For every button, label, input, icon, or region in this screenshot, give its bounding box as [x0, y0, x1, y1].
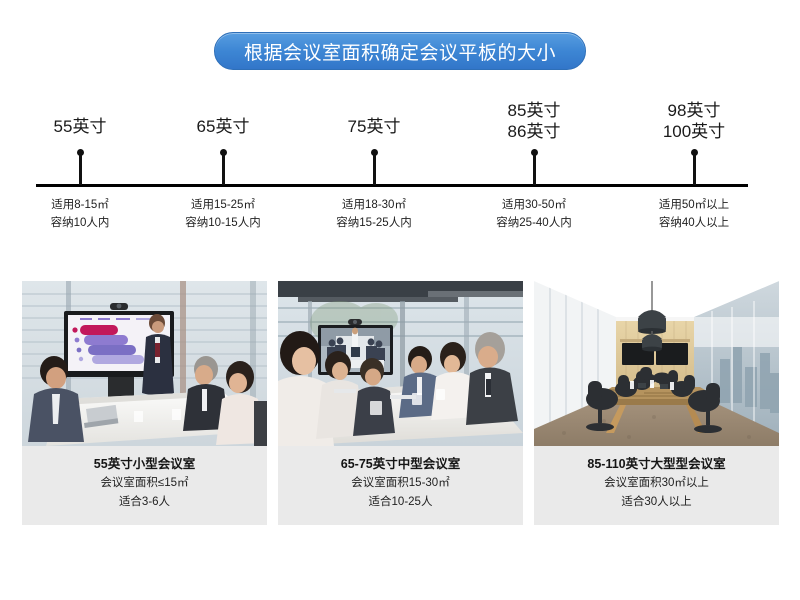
room-card-large: 85-110英寸大型型会议室 会议室面积30㎡以上 适合30人以上: [534, 281, 779, 525]
marker-stem: [373, 155, 376, 185]
marker-stem: [222, 155, 225, 185]
card-area: 会议室面积30㎡以上: [540, 474, 773, 493]
marker-size-line1: 75英寸: [289, 116, 459, 137]
marker-detail: 适用18-30㎡ 容纳15-25人内: [284, 196, 464, 232]
card-title: 85-110英寸大型型会议室: [540, 455, 773, 474]
room-card-caption: 85-110英寸大型型会议室 会议室面积30㎡以上 适合30人以上: [534, 446, 779, 525]
marker-size-line2: 86英寸: [449, 121, 619, 142]
card-people: 适合10-25人: [284, 493, 517, 512]
marker-capacity-text: 容纳40人以上: [604, 214, 784, 232]
room-card-caption: 65-75英寸中型会议室 会议室面积15-30㎡ 适合10-25人: [278, 446, 523, 525]
marker-size-label: 65英寸: [138, 116, 308, 137]
marker-size-line1: 65英寸: [138, 116, 308, 137]
room-card-small: 55英寸小型会议室 会议室面积≤15㎡ 适合3-6人: [22, 281, 267, 525]
room-card-medium: 65-75英寸中型会议室 会议室面积15-30㎡ 适合10-25人: [278, 281, 523, 525]
infographic-page: 根据会议室面积确定会议平板的大小 55英寸 适用8-15㎡ 容纳10人内 65英…: [0, 0, 800, 600]
marker-stem: [693, 155, 696, 185]
size-timeline: 55英寸 适用8-15㎡ 容纳10人内 65英寸 适用15-25㎡ 容纳10-1…: [0, 0, 800, 260]
card-people: 适合30人以上: [540, 493, 773, 512]
marker-detail: 适用50㎡以上 容纳40人以上: [604, 196, 784, 232]
marker-area-text: 适用30-50㎡: [444, 196, 624, 214]
room-type-card-list: 55英寸小型会议室 会议室面积≤15㎡ 适合3-6人: [22, 281, 778, 525]
marker-detail: 适用30-50㎡ 容纳25-40人内: [444, 196, 624, 232]
large-meeting-room-photo: [534, 281, 779, 446]
marker-stem: [533, 155, 536, 185]
card-area: 会议室面积≤15㎡: [28, 474, 261, 493]
marker-area-text: 适用18-30㎡: [284, 196, 464, 214]
marker-size-label: 75英寸: [289, 116, 459, 137]
marker-size-line1: 98英寸: [609, 100, 779, 121]
marker-size-label: 98英寸 100英寸: [609, 100, 779, 142]
small-meeting-room-photo: [22, 281, 267, 446]
marker-capacity-text: 容纳15-25人内: [284, 214, 464, 232]
card-title: 65-75英寸中型会议室: [284, 455, 517, 474]
medium-meeting-room-photo: [278, 281, 523, 446]
marker-area-text: 适用50㎡以上: [604, 196, 784, 214]
marker-stem: [79, 155, 82, 185]
card-title: 55英寸小型会议室: [28, 455, 261, 474]
marker-size-line2: 100英寸: [609, 121, 779, 142]
timeline-axis: [36, 184, 748, 187]
card-area: 会议室面积15-30㎡: [284, 474, 517, 493]
marker-size-label: 85英寸 86英寸: [449, 100, 619, 142]
marker-capacity-text: 容纳25-40人内: [444, 214, 624, 232]
card-people: 适合3-6人: [28, 493, 261, 512]
room-card-caption: 55英寸小型会议室 会议室面积≤15㎡ 适合3-6人: [22, 446, 267, 525]
marker-size-line1: 85英寸: [449, 100, 619, 121]
